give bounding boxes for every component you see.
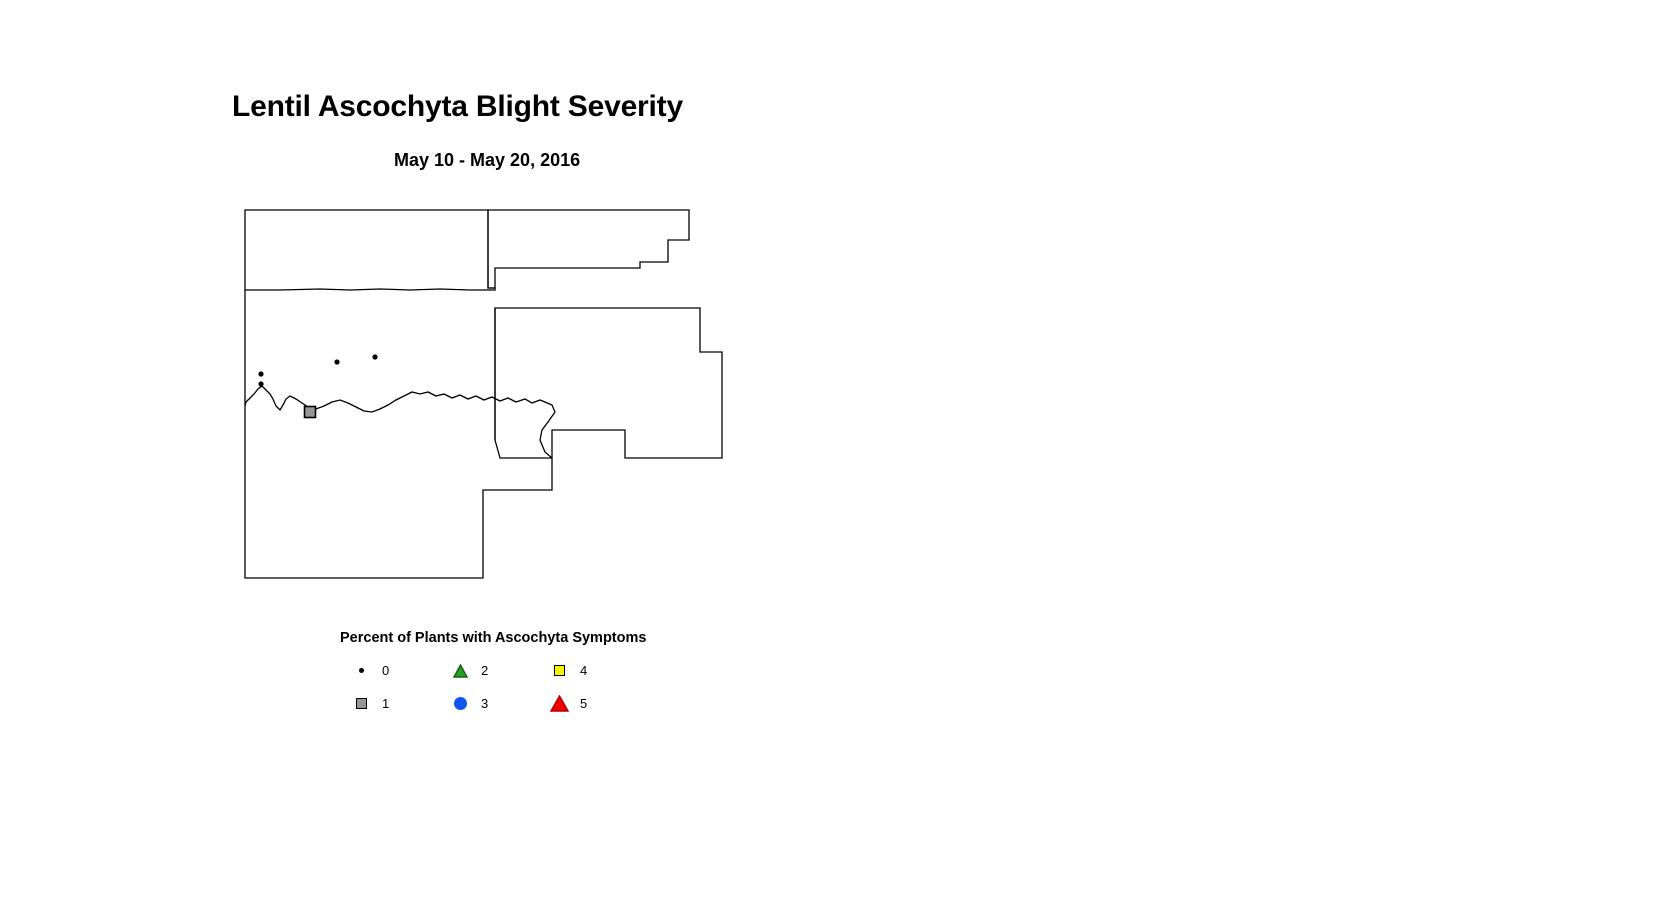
legend-row-bottom: 1 3 5	[348, 687, 678, 720]
legend-item-2[interactable]: 2	[447, 661, 546, 681]
legend-item-5[interactable]: 5	[546, 694, 645, 714]
marker-site-1[interactable]	[258, 371, 263, 376]
legend-grid: 0 2 4	[348, 654, 678, 720]
page-subtitle: May 10 - May 20, 2016	[394, 150, 580, 171]
map-page: Lentil Ascochyta Blight Severity May 10 …	[0, 0, 1673, 900]
page-title: Lentil Ascochyta Blight Severity	[232, 90, 683, 124]
legend-item-3[interactable]: 3	[447, 694, 546, 714]
county-boundaries	[245, 210, 722, 578]
legend-title: Percent of Plants with Ascochyta Symptom…	[340, 630, 646, 646]
county-outline-ne	[488, 210, 689, 288]
county-outline-central-west	[245, 290, 555, 578]
gray-square-marker-icon	[348, 694, 374, 714]
marker-site-3[interactable]	[334, 359, 339, 364]
legend-item-1[interactable]: 1	[348, 694, 447, 714]
legend-label-0: 0	[382, 663, 389, 678]
yellow-square-marker-icon	[546, 661, 572, 681]
blue-circle-marker-icon	[447, 694, 473, 714]
legend-label-5: 5	[580, 696, 587, 711]
legend-item-4[interactable]: 4	[546, 661, 645, 681]
legend: Percent of Plants with Ascochyta Symptom…	[340, 630, 680, 700]
red-triangle-marker-icon	[546, 694, 572, 714]
marker-site-5[interactable]	[305, 407, 316, 418]
legend-label-2: 2	[481, 663, 488, 678]
legend-item-0[interactable]: 0	[348, 661, 447, 681]
county-outline-nw	[245, 210, 495, 290]
green-triangle-marker-icon	[447, 661, 473, 681]
county-outline-e	[495, 308, 722, 458]
dot-marker-icon	[348, 661, 374, 681]
legend-label-1: 1	[382, 696, 389, 711]
map-canvas[interactable]	[240, 200, 760, 630]
legend-label-4: 4	[580, 663, 587, 678]
legend-row-top: 0 2 4	[348, 654, 678, 687]
marker-site-4[interactable]	[372, 354, 377, 359]
marker-site-2[interactable]	[258, 381, 263, 386]
legend-label-3: 3	[481, 696, 488, 711]
